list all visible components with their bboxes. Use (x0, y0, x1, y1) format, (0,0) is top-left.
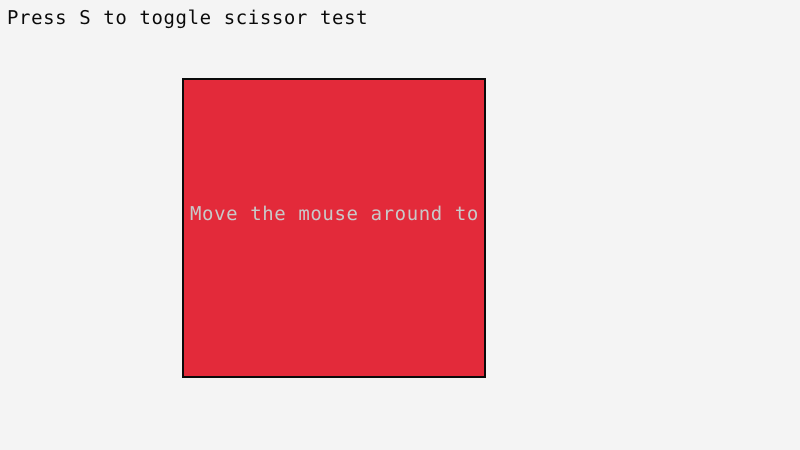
scissor-rectangle[interactable]: Move the mouse around to reveal the scis… (182, 78, 486, 378)
demo-canvas: Press S to toggle scissor test Move the … (0, 0, 800, 450)
clipped-message-text: Move the mouse around to reveal the scis… (190, 202, 486, 226)
scissor-toggle-hint: Press S to toggle scissor test (7, 6, 368, 30)
